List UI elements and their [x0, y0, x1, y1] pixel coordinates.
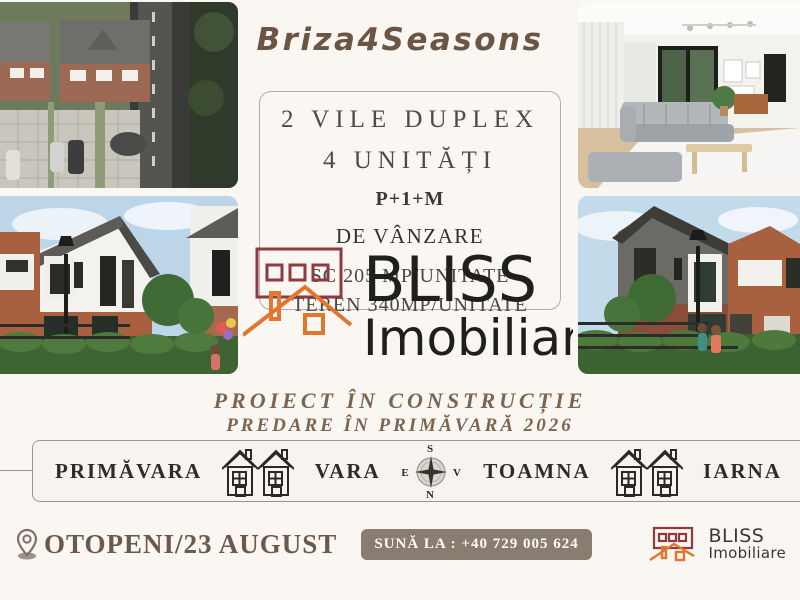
duplex-house-icon-right	[611, 445, 683, 497]
brand-logo[interactable]: BLISS Imobiliare	[648, 524, 787, 564]
spec-line-for-sale: DE VÂNZARE	[336, 224, 484, 249]
photo-exterior-left	[0, 196, 238, 374]
compass-label-north: N	[426, 489, 434, 500]
season-label-winter: IARNA	[703, 459, 782, 484]
spec-box: 2 VILE DUPLEX 4 UNITĂȚI P+1+M DE VÂNZARE…	[259, 91, 561, 310]
spec-line-floors: P+1+M	[376, 188, 445, 211]
compass-label-east: E	[401, 467, 408, 479]
advertisement-canvas: Briza4Seasons 2 VILE DUPLEX 4 UNITĂȚI P+…	[0, 0, 800, 600]
brand-text: BLISS Imobiliare	[709, 527, 787, 562]
compass-label-west: V	[453, 467, 461, 479]
season-label-spring: PRIMĂVARA	[55, 459, 202, 484]
svg-text:Imobiliare: Imobiliare	[363, 309, 573, 363]
seasons-bar: PRIMĂVARA	[32, 440, 800, 502]
spec-line-built-area: SC 205 MP/UNITATE	[311, 265, 510, 288]
compass-rose-icon: S N E V	[401, 442, 463, 500]
page-title: Briza4Seasons	[0, 22, 800, 58]
compass-label-south: S	[427, 443, 433, 455]
season-label-summer: VARA	[315, 459, 381, 484]
footer-bar: OTOPENI/23 AUGUST SUNĂ LA : +40 729 005 …	[0, 518, 800, 570]
spec-line-villas: 2 VILE DUPLEX	[281, 106, 539, 134]
status-line-delivery: PREDARE ÎN PRIMĂVARĂ 2026	[0, 415, 800, 437]
construction-status: PROIECT ÎN CONSTRUCȚIE PREDARE ÎN PRIMĂV…	[0, 388, 800, 437]
location-label: OTOPENI/23 AUGUST	[44, 529, 337, 560]
map-pin-icon	[14, 528, 40, 560]
spec-line-land-area: TEREN 340MP/UNITATE	[292, 294, 528, 317]
seasons-bar-tick	[0, 470, 34, 471]
brand-subtitle: Imobiliare	[709, 546, 787, 561]
spec-line-units: 4 UNITĂȚI	[323, 147, 497, 175]
status-line-project: PROIECT ÎN CONSTRUCȚIE	[0, 388, 800, 414]
photo-exterior-right	[578, 196, 800, 374]
season-label-autumn: TOAMNA	[483, 459, 590, 484]
duplex-house-icon-left	[222, 445, 294, 497]
bliss-house-logo-icon	[648, 524, 702, 564]
phone-cta-badge[interactable]: SUNĂ LA : +40 729 005 624	[361, 529, 591, 560]
